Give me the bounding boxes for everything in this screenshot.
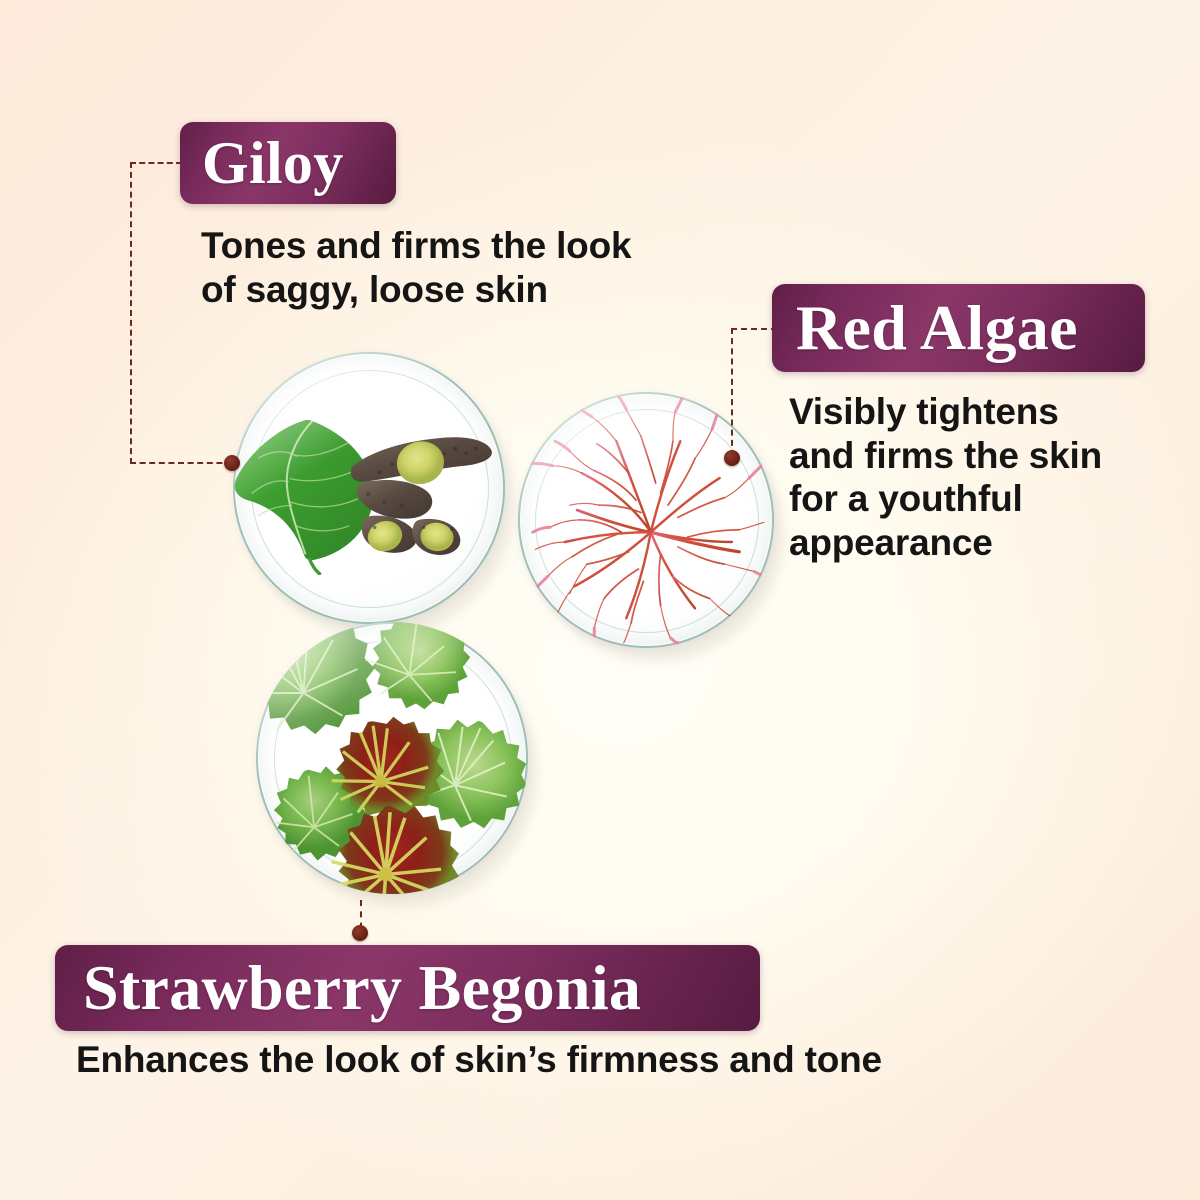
red-algae-description-line-4: appearance (789, 521, 1159, 565)
begonia-description: Enhances the look of skin’s firmness and… (76, 1038, 916, 1082)
red-algae-description-line-1: Visibly tightens (789, 390, 1159, 434)
begonia-connector-dot (352, 925, 368, 941)
red-algae-specimen (518, 392, 774, 648)
red-algae-connector-dot (724, 450, 740, 466)
begonia-petri-dish (256, 622, 528, 894)
red-algae-description: Visibly tightens and firms the skin for … (789, 390, 1159, 565)
begonia-description-line-1: Enhances the look of skin’s firmness and… (76, 1038, 916, 1082)
red-algae-connector-vertical-segment (731, 328, 733, 456)
red-algae-description-line-3: for a youthful (789, 477, 1159, 521)
giloy-connector-bottom-segment (130, 462, 232, 464)
giloy-title-text: Giloy (202, 129, 344, 198)
giloy-description-line-1: Tones and firms the look (201, 224, 671, 268)
red-algae-description-line-2: and firms the skin (789, 434, 1159, 478)
begonia-leaves-icon (256, 622, 528, 894)
ingredient-infographic: Giloy Tones and firms the look of saggy,… (0, 0, 1200, 1200)
red-algae-title-text: Red Algae (796, 291, 1078, 365)
red-algae-title-badge[interactable]: Red Algae (772, 284, 1145, 372)
begonia-title-badge[interactable]: Strawberry Begonia (55, 945, 760, 1031)
begonia-title-text: Strawberry Begonia (83, 951, 641, 1025)
giloy-description-line-2: of saggy, loose skin (201, 268, 671, 312)
red-algae-petri-dish (518, 392, 774, 648)
giloy-title-badge[interactable]: Giloy (180, 122, 396, 204)
red-algae-connector-top-segment (731, 328, 777, 330)
giloy-stem-pieces-icon (342, 417, 505, 575)
giloy-connector-vertical-segment (130, 162, 132, 464)
giloy-specimen (233, 352, 505, 624)
giloy-description: Tones and firms the look of saggy, loose… (201, 224, 671, 311)
giloy-petri-dish (233, 352, 505, 624)
giloy-connector-top-segment (130, 162, 182, 164)
giloy-connector-dot (224, 455, 240, 471)
begonia-specimen (256, 622, 528, 894)
